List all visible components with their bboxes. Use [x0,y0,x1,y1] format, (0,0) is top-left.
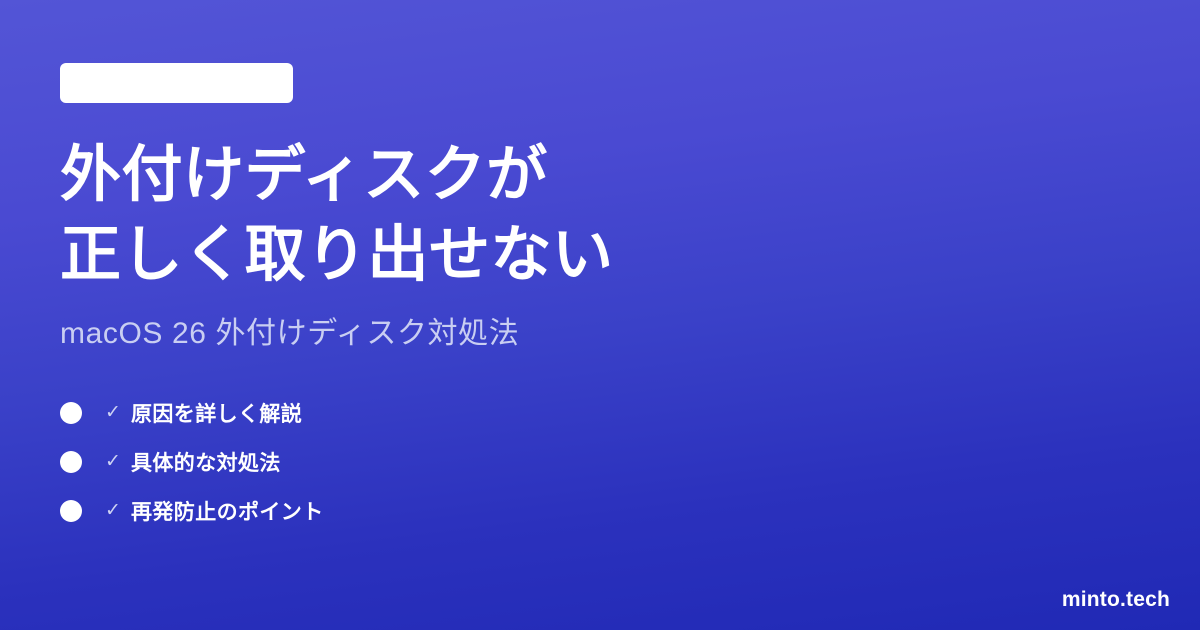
check-icon: ✓ [103,501,123,520]
list-item: ✓ 原因を詳しく解説 [60,388,1080,437]
bullet-dot-icon [60,500,82,522]
site-brand: minto.tech [1062,588,1170,612]
list-item: ✓ 再発防止のポイント [60,486,1080,535]
list-item-label: 具体的な対処法 [131,447,281,477]
page-title-line-1: 外付けディスクが [60,134,1080,214]
feature-list: ✓ 原因を詳しく解説 ✓ 具体的な対処法 ✓ 再発防止のポイント [60,388,1080,535]
page-title-line-2: 正しく取り出せない [60,214,1080,294]
bullet-dot-icon [60,451,82,473]
list-item: ✓ 具体的な対処法 [60,437,1080,486]
list-item-label: 再発防止のポイント [131,496,324,526]
check-icon: ✓ [103,452,123,471]
content-block: 外付けディスクが 正しく取り出せない macOS 26 外付けディスク対処法 ✓… [60,63,1080,535]
hero-card: 外付けディスクが 正しく取り出せない macOS 26 外付けディスク対処法 ✓… [0,0,1200,630]
page-title: 外付けディスクが 正しく取り出せない [60,134,1080,294]
category-badge [60,63,293,103]
list-item-label: 原因を詳しく解説 [131,398,302,428]
bullet-dot-icon [60,402,82,424]
check-icon: ✓ [103,403,123,422]
page-subtitle: macOS 26 外付けディスク対処法 [60,316,1080,352]
